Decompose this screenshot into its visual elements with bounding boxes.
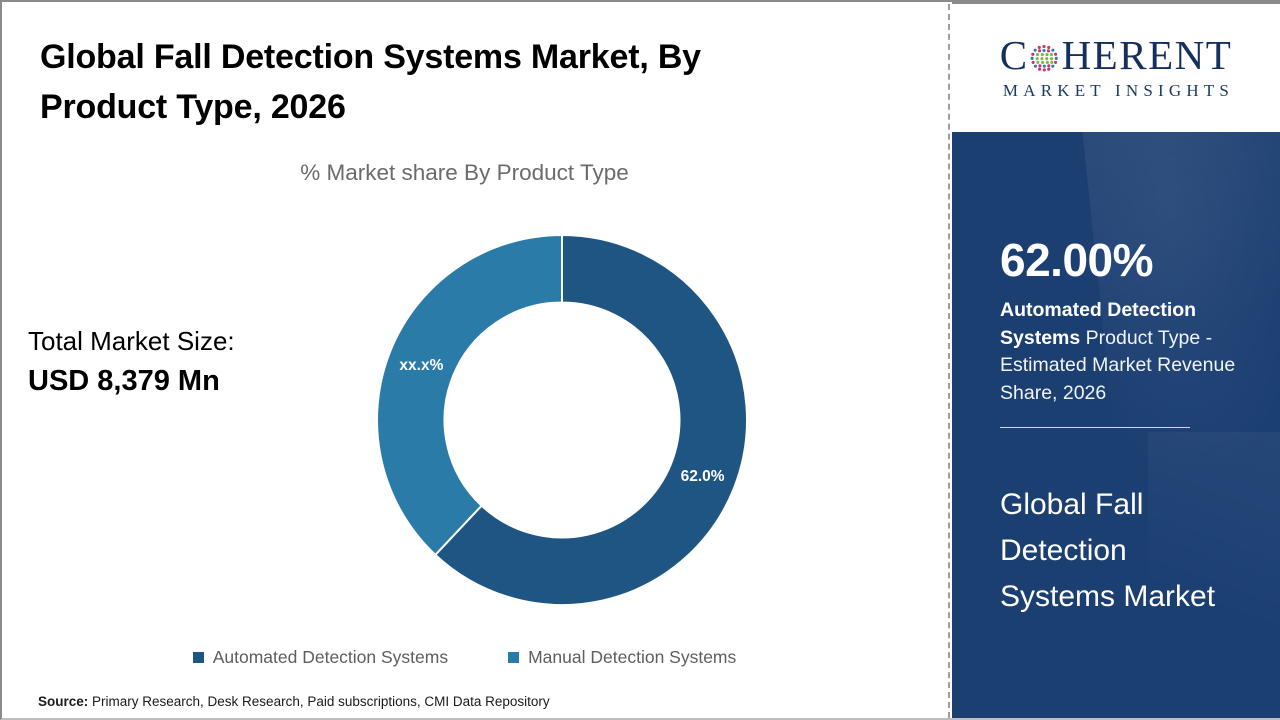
stat-value: 62.00% [1000, 237, 1252, 283]
sidebar-panel: C [952, 2, 1280, 720]
brand-wordmark: C [1000, 35, 1233, 76]
legend-swatch-icon-automated [193, 652, 204, 663]
sidebar-market-name: Global Fall Detection Systems Market [1000, 482, 1250, 620]
brand-tagline: MARKET INSIGHTS [998, 81, 1234, 101]
logo-letter-c: C [1000, 35, 1029, 76]
legend-item-automated[interactable]: Automated Detection Systems [193, 647, 448, 668]
source-text: Primary Research, Desk Research, Paid su… [88, 694, 549, 709]
infographic-root: Global Fall Detection Systems Market, By… [0, 0, 1280, 720]
legend-label-automated: Automated Detection Systems [213, 647, 448, 668]
source-line: Source: Primary Research, Desk Research,… [38, 694, 550, 709]
slice-label-manual: xx.x% [399, 357, 443, 374]
chart-subtitle: % Market share By Product Type [2, 160, 927, 186]
donut-chart: 62.0% xx.x% [372, 230, 752, 610]
total-market-size-label: Total Market Size: [28, 324, 328, 360]
stat-divider [1000, 427, 1190, 428]
stat-caption: Automated Detection Systems Product Type… [1000, 297, 1252, 408]
legend-item-manual[interactable]: Manual Detection Systems [508, 647, 736, 668]
source-label: Source: [38, 694, 88, 709]
globe-dots-icon [1027, 41, 1061, 75]
total-market-size-value: USD 8,379 Mn [28, 362, 328, 401]
logo-text-herent: HERENT [1062, 35, 1233, 76]
donut-slice[interactable] [377, 235, 562, 555]
legend-label-manual: Manual Detection Systems [528, 647, 736, 668]
chart-legend: Automated Detection Systems Manual Detec… [2, 647, 927, 668]
donut-chart-svg: 62.0% xx.x% [372, 230, 752, 610]
sidebar-body: 62.00% Automated Detection Systems Produ… [952, 132, 1280, 720]
total-market-size-block: Total Market Size: USD 8,379 Mn [28, 324, 328, 401]
chart-panel: Global Fall Detection Systems Market, By… [2, 2, 949, 718]
highlight-stat-block: 62.00% Automated Detection Systems Produ… [1000, 237, 1252, 428]
brand-logo[interactable]: C [952, 2, 1280, 132]
legend-swatch-icon-manual [508, 652, 519, 663]
slice-label-automated: 62.0% [681, 468, 725, 485]
vertical-dashed-divider [948, 4, 950, 718]
page-title: Global Fall Detection Systems Market, By… [40, 32, 820, 133]
donut-slices [377, 235, 747, 605]
